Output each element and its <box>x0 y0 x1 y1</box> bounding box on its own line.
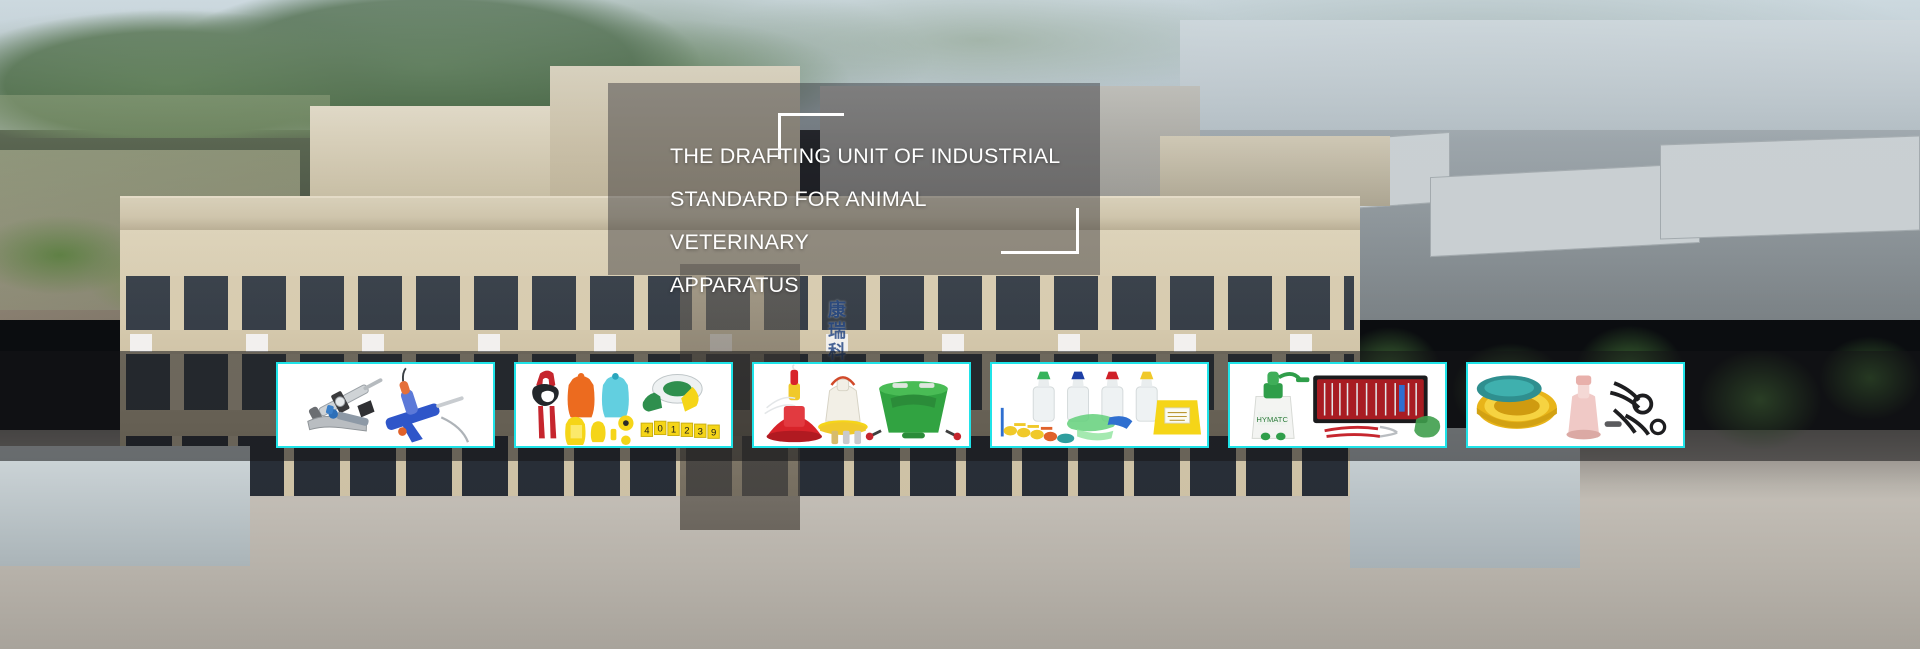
warehouse-roof <box>1660 135 1920 239</box>
left-wing <box>0 446 250 566</box>
svg-text:3: 3 <box>698 427 703 438</box>
thumb-poultry-feeders[interactable] <box>752 362 971 448</box>
ear-tags-image: 4 0 1 2 3 <box>516 364 731 446</box>
thumb-insemination-kit[interactable] <box>990 362 1209 448</box>
svg-text:HYMATC: HYMATC <box>1256 415 1288 424</box>
sprayer-surgical-image: HYMATC <box>1230 364 1445 446</box>
svg-text:4: 4 <box>644 426 650 437</box>
hero-banner: 康瑞科技 THE DRAFTING UNIT OF INDUSTRIAL STA… <box>0 0 1920 649</box>
product-thumbnail-strip: 4 0 1 2 3 <box>276 362 1646 448</box>
thumb-sprayer-surgical[interactable]: HYMATC <box>1228 362 1447 448</box>
thumb-ear-tags[interactable]: 4 0 1 2 3 <box>514 362 733 448</box>
svg-text:1: 1 <box>671 425 676 436</box>
svg-text:9: 9 <box>711 428 716 439</box>
svg-text:2: 2 <box>684 426 689 437</box>
headline-overlay-panel: THE DRAFTING UNIT OF INDUSTRIAL STANDARD… <box>608 83 1100 275</box>
castration-tools-image <box>1468 364 1683 446</box>
poultry-feeders-image <box>754 364 969 446</box>
thumb-veterinary-syringes[interactable] <box>276 362 495 448</box>
veterinary-syringes-image <box>278 364 493 446</box>
insemination-kit-image <box>992 364 1207 446</box>
page-title: THE DRAFTING UNIT OF INDUSTRIAL STANDARD… <box>670 135 1070 307</box>
thumb-castration-tools[interactable] <box>1466 362 1685 448</box>
svg-text:0: 0 <box>658 424 663 435</box>
